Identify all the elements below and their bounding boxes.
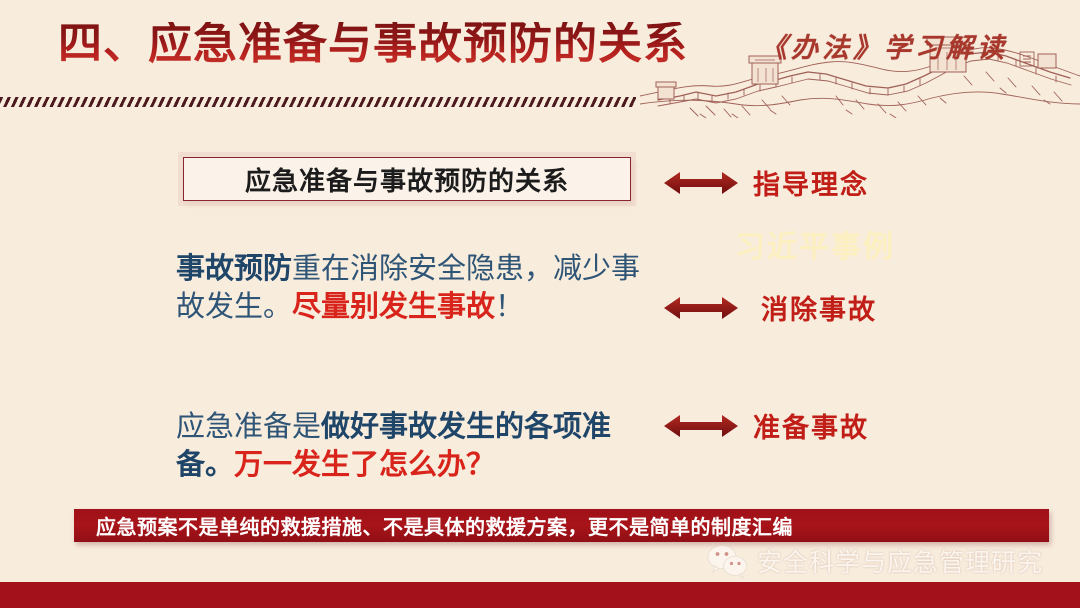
wechat-icon (706, 543, 748, 579)
relation-row-2: 消除事故 (663, 288, 877, 327)
relation-label-3: 准备事故 (753, 406, 869, 445)
paragraph-2-bold-red: 万一发生了怎么办？ (234, 449, 495, 481)
wechat-watermark-text: 安全科学与应急管理研究 (757, 543, 1043, 579)
wechat-watermark: 安全科学与应急管理研究 (706, 543, 1043, 579)
double-arrow-icon (663, 411, 739, 441)
yellow-watermark-text: 习近平事例 (735, 222, 895, 266)
bottom-banner: 应急预案不是单纯的救援措施、不是具体的救援方案，更不是简单的制度汇编 (74, 509, 1049, 542)
bottom-banner-text: 应急预案不是单纯的救援措施、不是具体的救援方案，更不是简单的制度汇编 (96, 511, 793, 540)
bottom-accent-bar (0, 582, 1080, 608)
relation-row-3: 准备事故 (663, 406, 869, 445)
slide-root: 四、应急准备与事故预防的关系 四、应急准备与事故预防的关系 (0, 0, 1080, 608)
paragraph-1: 事故预防重在消除安全隐患，减少事故发生。尽量别发生事故！ (176, 250, 646, 327)
brush-subtitle: 《办法》学习解读 (760, 26, 1008, 65)
page-title: 四、应急准备与事故预防的关系 (58, 22, 688, 66)
paragraph-2-normal-blue: 应急准备是 (176, 411, 321, 443)
paragraph-1-bold-red: 尽量别发生事故 (292, 291, 495, 323)
slide-header: 四、应急准备与事故预防的关系 四、应急准备与事故预防的关系 (0, 0, 1080, 118)
paragraph-1-trailing: ！ (495, 291, 524, 323)
relation-row-1: 指导理念 (663, 163, 869, 202)
relation-label-1: 指导理念 (753, 163, 869, 202)
double-arrow-icon (663, 168, 739, 198)
highlight-box: 应急准备与事故预防的关系 (183, 157, 631, 201)
highlight-box-label: 应急准备与事故预防的关系 (245, 161, 569, 198)
paragraph-1-bold-blue: 事故预防 (176, 253, 292, 285)
relation-label-2: 消除事故 (761, 288, 877, 327)
double-arrow-icon (663, 293, 739, 323)
paragraph-2: 应急准备是做好事故发生的各项准备。万一发生了怎么办？ (176, 408, 646, 485)
hatched-divider (0, 97, 636, 107)
